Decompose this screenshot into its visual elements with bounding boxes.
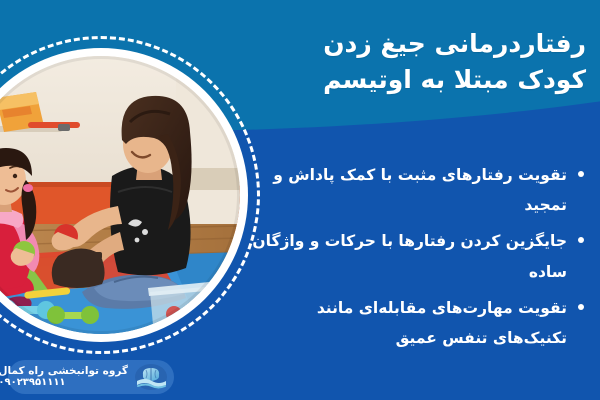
brain-wave-logo-icon (134, 363, 168, 391)
poster-canvas: رفتاردرمانی جیغ زدن کودک مبتلا به اوتیسم… (0, 0, 600, 400)
clinic-name: گروه توانبخشی راه کمال (0, 365, 128, 377)
title-line-1: رفتاردرمانی جیغ زدن (323, 29, 586, 58)
list-item: تقویت مهارت‌های مقابله‌ای مانند تکنیک‌ها… (250, 293, 586, 353)
badge-text-block: گروه توانبخشی راه کمال ۰۹۰۲۳۹۵۱۱۱۱ (0, 365, 128, 389)
clinic-phone: ۰۹۰۲۳۹۵۱۱۱۱ (0, 377, 66, 389)
title-line-2: کودک مبتلا به اوتیسم (256, 62, 586, 98)
list-item: جایگزین کردن رفتارها با حرکات و واژگان س… (250, 226, 586, 286)
photo-frame (0, 36, 260, 354)
page-title: رفتاردرمانی جیغ زدن کودک مبتلا به اوتیسم (256, 26, 586, 97)
list-item: تقویت رفتارهای مثبت با کمک پاداش و تمجید (250, 160, 586, 220)
clinic-logo-badge[interactable]: گروه توانبخشی راه کمال ۰۹۰۲۳۹۵۱۱۱۱ (8, 360, 174, 394)
feature-list: تقویت رفتارهای مثبت با کمک پاداش و تمجید… (250, 160, 586, 359)
